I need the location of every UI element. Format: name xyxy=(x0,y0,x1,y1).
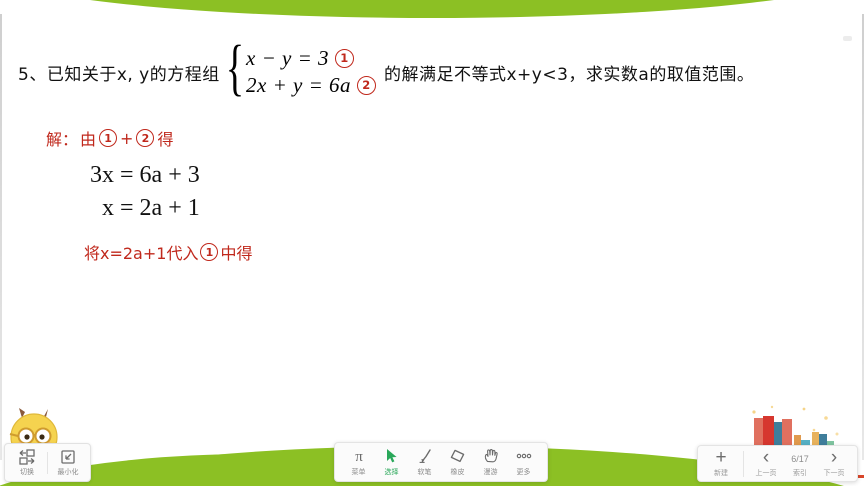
solution-tag-2: 2 xyxy=(136,129,154,147)
problem-statement: 5、已知关于x, y的方程组 { x − y = 3 1 2x + y = 6a… xyxy=(18,46,854,98)
equation-row-2: 2x + y = 6a 2 xyxy=(246,73,376,98)
hand-icon xyxy=(483,447,499,464)
substitution-text-b: 中得 xyxy=(220,240,252,264)
prev-page-button[interactable]: ‹ 上一页 xyxy=(749,450,783,478)
control-divider xyxy=(47,452,48,474)
switch-button[interactable]: 切换 xyxy=(9,447,45,479)
prev-page-label: 上一页 xyxy=(756,468,777,478)
solution-step-2-text: x = 2a + 1 xyxy=(102,195,200,221)
solution-step-1-text: 3x = 6a + 3 xyxy=(90,162,200,188)
page-navigation[interactable]: + 新建 ‹ 上一页 6/17 索引 › 下一页 xyxy=(697,445,858,482)
solution-block: 解： 由 1 + 2 得 3x = 6a + 3 x = 2a + 1 将x=2… xyxy=(46,126,252,264)
toolbar-item-more[interactable]: 更多 xyxy=(508,447,539,478)
solution-step-1: 3x = 6a + 3 xyxy=(90,162,252,189)
presentation-stage: 5、已知关于x, y的方程组 { x − y = 3 1 2x + y = 6a… xyxy=(0,0,864,486)
substitution-tag: 1 xyxy=(200,243,218,261)
equation-1-text: x − y = 3 xyxy=(246,46,329,71)
solution-step-2: x = 2a + 1 xyxy=(102,195,252,222)
toolbar-label-roam: 漫游 xyxy=(484,467,498,477)
substitution-text-a: 将x=2a+1代入 xyxy=(84,240,198,264)
equation-system: { x − y = 3 1 2x + y = 6a 2 xyxy=(220,46,376,98)
solution-substitution: 将x=2a+1代入 1 中得 xyxy=(84,240,252,264)
page-index-label: 索引 xyxy=(793,468,807,478)
solution-label: 解： xyxy=(46,126,78,150)
toolbar-item-select[interactable]: 选择 xyxy=(376,447,407,478)
solution-by: 由 xyxy=(80,126,96,150)
switch-label: 切换 xyxy=(20,467,34,477)
solution-get: 得 xyxy=(157,126,173,150)
page-index-button[interactable]: 6/17 索引 xyxy=(783,452,817,478)
minimize-button[interactable]: 最小化 xyxy=(50,447,86,479)
page-indicator: 6/17 xyxy=(791,452,809,466)
dots-icon xyxy=(514,447,534,464)
solution-header: 解： 由 1 + 2 得 xyxy=(46,126,252,150)
minimize-icon xyxy=(59,449,77,465)
problem-suffix: 的解满足不等式x+y<3，求实数a的取值范围。 xyxy=(384,60,754,85)
pen-icon xyxy=(417,447,433,464)
pi-icon: π xyxy=(351,447,367,464)
toolbar-label-eraser: 橡皮 xyxy=(451,467,465,477)
switch-icon xyxy=(18,449,36,465)
toolbar-item-roam[interactable]: 漫游 xyxy=(475,447,506,478)
next-page-label: 下一页 xyxy=(824,468,845,478)
equation-2-text: 2x + y = 6a xyxy=(246,73,351,98)
chevron-right-icon: › xyxy=(831,450,837,466)
toolbar-item-pen[interactable]: 软笔 xyxy=(409,447,440,478)
cursor-icon xyxy=(384,447,400,464)
toolbar-label-pen: 软笔 xyxy=(418,467,432,477)
new-page-button[interactable]: + 新建 xyxy=(704,450,738,478)
left-brace-icon: { xyxy=(226,42,245,98)
toolbar-item-menu[interactable]: π 菜单 xyxy=(343,447,374,478)
minimize-label: 最小化 xyxy=(58,467,79,477)
plus-icon: + xyxy=(715,450,726,466)
new-page-label: 新建 xyxy=(714,468,728,478)
problem-prefix: 5、已知关于x, y的方程组 xyxy=(18,60,220,85)
toolbar-item-eraser[interactable]: 橡皮 xyxy=(442,447,473,478)
eraser-icon xyxy=(449,447,466,464)
toolbar-label-menu: 菜单 xyxy=(352,467,366,477)
equation-row-1: x − y = 3 1 xyxy=(246,46,376,71)
nav-divider xyxy=(743,451,744,477)
drawing-toolbar[interactable]: π 菜单 选择 软笔 xyxy=(334,442,548,482)
whiteboard-canvas[interactable]: 5、已知关于x, y的方程组 { x − y = 3 1 2x + y = 6a… xyxy=(0,16,864,458)
chevron-left-icon: ‹ xyxy=(763,450,769,466)
equation-2-tag: 2 xyxy=(357,76,376,95)
solution-plus: + xyxy=(120,129,133,148)
next-page-button[interactable]: › 下一页 xyxy=(817,450,851,478)
equation-1-tag: 1 xyxy=(335,49,354,68)
left-control-cluster[interactable]: 切换 最小化 xyxy=(4,443,91,482)
toolbar-label-more: 更多 xyxy=(517,467,531,477)
toolbar-label-select: 选择 xyxy=(385,467,399,477)
solution-tag-1: 1 xyxy=(99,129,117,147)
svg-text:π: π xyxy=(355,449,363,464)
